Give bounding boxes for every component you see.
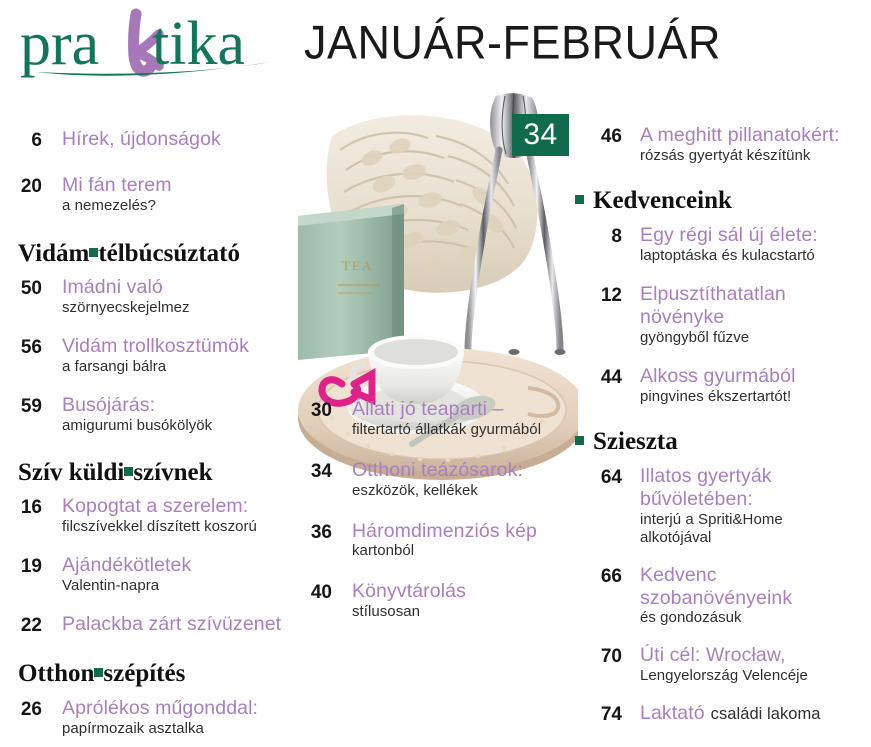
toc-entry[interactable]: 70 Úti cél: Wrocław, Lengyelország Velen… — [575, 644, 871, 685]
toc-column-right: 46 A meghitt pillanatokért: rózsás gyert… — [575, 124, 871, 726]
toc-entry[interactable]: 40 Könyvtárolás stílusosan — [290, 580, 575, 621]
section-header: Vidám télbúcsúztató — [0, 240, 290, 268]
page-number: 36 — [290, 520, 332, 544]
entry-title: Palackba zárt szívüzenet — [62, 613, 290, 636]
section-header-post: szívnek — [133, 459, 212, 487]
toc-entry[interactable]: 8 Egy régi sál új élete: laptoptáska és … — [575, 224, 871, 265]
toc-entry[interactable]: 26 Aprólékos műgonddal: papírmozaik aszt… — [0, 697, 290, 738]
toc-entry[interactable]: 66 Kedvenc szobanövényeink és gondozásuk — [575, 564, 871, 628]
toc-entry[interactable]: 74 Laktatócsaládi lakoma — [575, 702, 871, 726]
toc-entry[interactable]: 16 Kopogtat a szerelem: filcszívekkel dí… — [0, 495, 290, 536]
page-number: 8 — [575, 224, 622, 248]
entry-subtitle: laptoptáska és kulacstartó — [640, 247, 871, 265]
entry-subtitle: szörnyecskejelmez — [62, 299, 290, 317]
section-header: Szív küldi szívnek — [0, 459, 290, 487]
toc-entry[interactable]: 64 Illatos gyertyák bűvöletében: interjú… — [575, 465, 871, 547]
section-header-post: szépítés — [103, 660, 185, 688]
page-number: 59 — [0, 394, 42, 418]
toc-entry[interactable]: 50 Imádni való szörnyecskejelmez — [0, 276, 290, 317]
entry-title: Aprólékos műgonddal: — [62, 697, 290, 720]
green-square-icon — [124, 467, 133, 476]
page-number: 16 — [0, 495, 42, 519]
page-number: 66 — [575, 564, 622, 588]
page-number: 26 — [0, 697, 42, 721]
entry-title: Kedvenc szobanövényeink — [640, 564, 810, 610]
section-header-post: Kedvenceink — [593, 187, 732, 215]
toc-entry[interactable]: 44 Alkoss gyurmából pingvines ékszertart… — [575, 365, 871, 406]
toc-entry[interactable]: 36 Háromdimenziós kép kartonból — [290, 520, 575, 561]
entry-title: A meghitt pillanatokért: — [640, 124, 871, 147]
entry-title: Alkoss gyurmából — [640, 365, 871, 388]
entry-title: Úti cél: Wrocław, — [640, 644, 871, 667]
entry-subtitle: a farsangi bálra — [62, 358, 290, 376]
toc-entry[interactable]: 34 Otthoni teázósarok: eszközök, kelléke… — [290, 459, 575, 500]
page-number: 34 — [290, 459, 332, 483]
masthead: pra tika JANUÁR-FEBRUÁR — [0, 0, 871, 92]
page-number: 22 — [0, 613, 42, 637]
toc-entry[interactable]: 12 Elpusztíthatatlan növényke gyöngyből … — [575, 283, 871, 347]
section-header: Szieszta — [575, 428, 871, 456]
issue-date: JANUÁR-FEBRUÁR — [304, 18, 721, 66]
entry-subtitle: interjú a Spriti&Home alkotójával — [640, 511, 800, 547]
entry-subtitle: kartonból — [352, 542, 575, 560]
entry-title: Háromdimenziós kép — [352, 520, 575, 543]
toc-entry[interactable]: 56 Vidám trollkosztümök a farsangi bálra — [0, 335, 290, 376]
entry-subtitle: amigurumi busókölyök — [62, 417, 290, 435]
page-number: 40 — [290, 580, 332, 604]
page-number: 30 — [290, 398, 332, 422]
page-number: 64 — [575, 465, 622, 489]
toc-entry[interactable]: 19 Ajándékötletek Valentin-napra — [0, 554, 290, 595]
entry-subtitle: gyöngyből fűzve — [640, 329, 871, 347]
entry-subtitle: családi lakoma — [711, 705, 821, 723]
entry-title: Egy régi sál új élete: — [640, 224, 871, 247]
green-square-icon — [94, 668, 103, 677]
entry-subtitle: papírmozaik asztalka — [62, 720, 290, 738]
green-square-icon — [89, 248, 98, 257]
entry-title: Mi fán terem — [62, 174, 290, 197]
entry-subtitle: és gondozásuk — [640, 609, 871, 627]
entry-title: Kopogtat a szerelem: — [62, 495, 290, 518]
entry-title: Imádni való — [62, 276, 290, 299]
toc-entry[interactable]: 22 Palackba zárt szívüzenet — [0, 613, 290, 637]
entry-title: Elpusztíthatatlan növényke — [640, 283, 820, 329]
page-number: 74 — [575, 702, 622, 726]
green-square-icon — [575, 436, 584, 445]
entry-subtitle: filtertartó állatkák gyurmából — [352, 421, 575, 439]
entry-subtitle: pingvines ékszertartót! — [640, 388, 871, 406]
page-number: 44 — [575, 365, 622, 389]
section-header-post: télbúcsúztató — [98, 240, 240, 268]
section-header: Kedvenceink — [575, 187, 871, 215]
entry-subtitle: stílusosan — [352, 603, 575, 621]
entry-title: Vidám trollkosztümök — [62, 335, 290, 358]
entry-title: Ajándékötletek — [62, 554, 290, 577]
toc-column-middle: 30 Állati jó teaparti – filtertartó álla… — [290, 398, 575, 621]
section-header-pre: Vidám — [18, 240, 89, 268]
praktika-logo[interactable]: pra tika — [18, 8, 290, 80]
entry-title: Otthoni teázósarok: — [352, 459, 575, 482]
svg-text:TEA: TEA — [342, 258, 373, 273]
page-number: 50 — [0, 276, 42, 300]
entry-title: Állati jó teaparti – — [352, 398, 575, 421]
toc-entry[interactable]: 20 Mi fán terem a nemezelés? — [0, 174, 290, 215]
entry-title: Illatos gyertyák bűvöletében: — [640, 465, 790, 511]
logo-artwork: pra tika — [18, 8, 290, 80]
page-number: 6 — [0, 128, 42, 152]
entry-subtitle: Lengyelország Velencéje — [640, 667, 871, 685]
toc-entry[interactable]: 6 Hírek, újdonságok — [0, 128, 290, 152]
section-header-pre: Szív küldi — [18, 459, 124, 487]
page-number: 46 — [575, 124, 622, 148]
svg-text:tika: tika — [152, 10, 245, 78]
entry-title: Laktató — [640, 702, 705, 724]
toc-column-left: 6 Hírek, újdonságok 20 Mi fán terem a ne… — [0, 112, 290, 738]
section-header: Otthon szépítés — [0, 660, 290, 688]
entry-subtitle: rózsás gyertyát készítünk — [640, 147, 871, 165]
toc-entry[interactable]: 59 Busójárás: amigurumi busókölyök — [0, 394, 290, 435]
entry-subtitle: a nemezelés? — [62, 197, 290, 215]
page-number: 12 — [575, 283, 622, 307]
section-header-pre: Otthon — [18, 660, 94, 688]
page-number: 20 — [0, 174, 42, 198]
page-number: 70 — [575, 644, 622, 668]
entry-title: Busójárás: — [62, 394, 290, 417]
svg-text:pra: pra — [20, 10, 99, 78]
entry-title: Könyvtárolás — [352, 580, 575, 603]
toc-entry[interactable]: 46 A meghitt pillanatokért: rózsás gyert… — [575, 124, 871, 165]
green-square-icon — [575, 195, 584, 204]
photo-page-badge: 34 — [512, 114, 569, 156]
entry-subtitle: filcszívekkel díszített koszorú — [62, 518, 290, 536]
entry-subtitle: eszközök, kellékek — [352, 482, 575, 500]
section-header-post: Szieszta — [593, 428, 678, 456]
entry-title: Hírek, újdonságok — [62, 128, 290, 151]
magazine-toc-page: pra tika JANUÁR-FEBRUÁR — [0, 0, 871, 747]
page-number: 56 — [0, 335, 42, 359]
page-number: 19 — [0, 554, 42, 578]
toc-entry[interactable]: 30 Állati jó teaparti – filtertartó álla… — [290, 398, 575, 439]
entry-subtitle: Valentin-napra — [62, 577, 290, 595]
